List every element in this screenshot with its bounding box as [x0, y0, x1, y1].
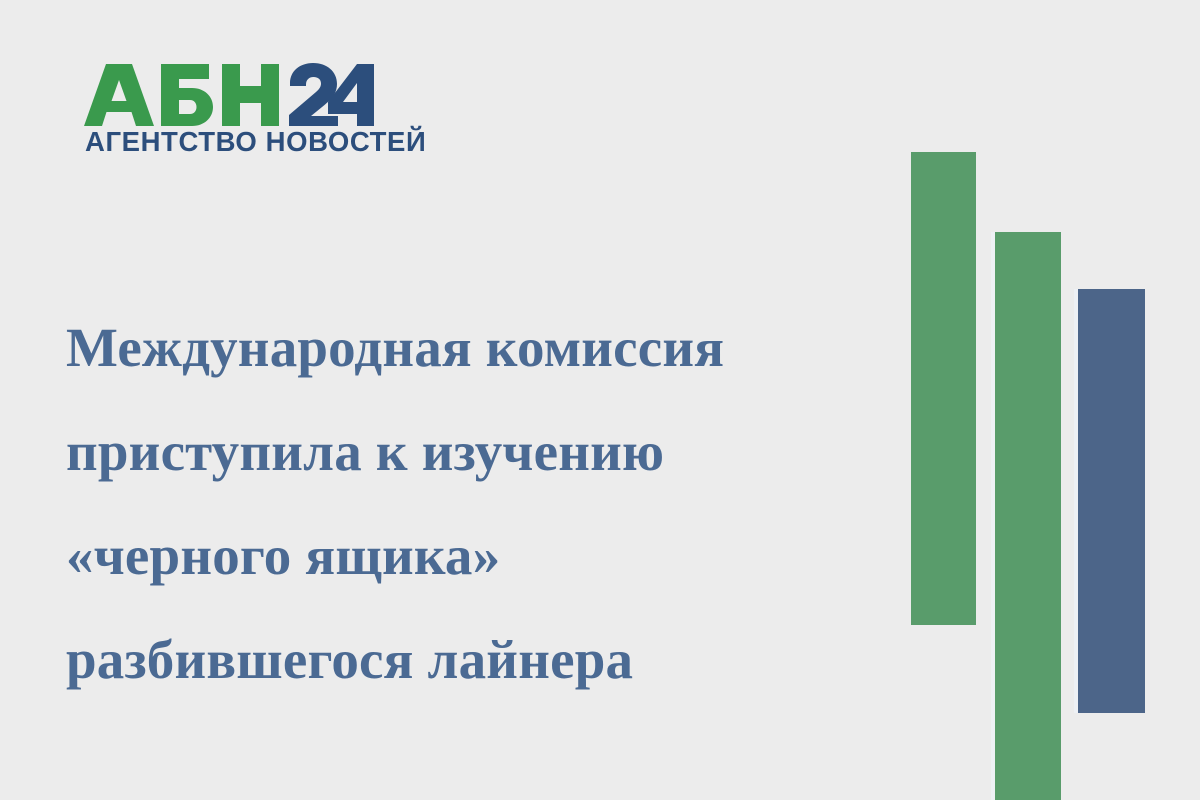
headline: Международная комиссия приступила к изуч…: [66, 296, 876, 712]
logo-tagline: АГЕНТСТВО НОВОСТЕЙ: [85, 128, 375, 156]
headline-line-2: приступила к изучению: [66, 400, 876, 504]
poster-canvas: АГЕНТСТВО НОВОСТЕЙ Международная комисси…: [0, 0, 1200, 800]
bar-3: [1078, 289, 1145, 713]
logo-wordmark-icon: [84, 62, 374, 128]
headline-line-4: разбившегося лайнера: [66, 608, 876, 712]
headline-line-3: «черного ящика»: [66, 504, 876, 608]
headline-line-1: Международная комиссия: [66, 296, 876, 400]
bar-2: [995, 232, 1061, 800]
bar-1: [911, 152, 976, 625]
logo[interactable]: АГЕНТСТВО НОВОСТЕЙ: [84, 62, 374, 162]
